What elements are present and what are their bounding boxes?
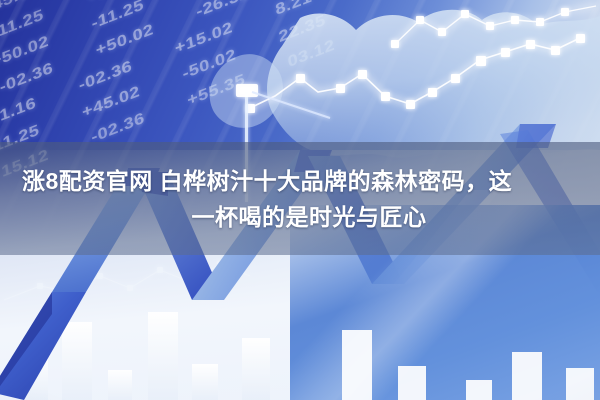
stock-market-banner: -24.35 +50.02 -02.36 +55.35 21.06 -11.25… [0, 0, 600, 400]
number-row: -24.35 +50.02 -02.36 +55.35 21.06 [0, 0, 600, 37]
number-cell: 03.12 [287, 37, 336, 72]
number-cell: -11.25 [90, 0, 145, 34]
number-cell: 22.35 [277, 12, 326, 47]
number-cell: +50.02 [0, 33, 50, 72]
number-row: -02.36 +50.02 -11.25 +45.02 10.02 [0, 0, 600, 117]
number-cell: +55.35 [186, 71, 246, 110]
headline-band: 涨8配资官网 白桦树汁十大品牌的森林密码，这 一杯喝的是时光与匠心 [0, 142, 600, 255]
number-cell: -11.25 [0, 6, 45, 43]
number-cell: -02.36 [0, 59, 54, 97]
number-row: -11.25 +45.02 -02.36 +50.02 45.02 [0, 0, 600, 64]
number-cell: 1.16 [0, 94, 37, 125]
number-cell: +45.02 [81, 83, 141, 122]
headline-line-2: 一杯喝的是时光与匠心 [192, 202, 427, 232]
number-cell: -50.02 [181, 46, 237, 84]
number-row: +55.35 -11.25 +15.02 -02.36 4.36 [0, 0, 600, 91]
number-cell: +15.02 [85, 0, 145, 7]
headline-line-1: 涨8配资官网 白桦树汁十大品牌的森林密码，这 [22, 166, 512, 196]
number-cell: +15.02 [174, 19, 234, 58]
number-row: +15.02 -02.36 +50.02 -26.32 02.36 [0, 0, 600, 144]
number-cell: +45.02 [0, 0, 41, 19]
number-cell: -26.32 [195, 0, 251, 22]
number-cell: +50.02 [95, 21, 155, 60]
number-cell: -02.36 [78, 58, 134, 96]
number-cell: 8.21 [274, 0, 313, 20]
